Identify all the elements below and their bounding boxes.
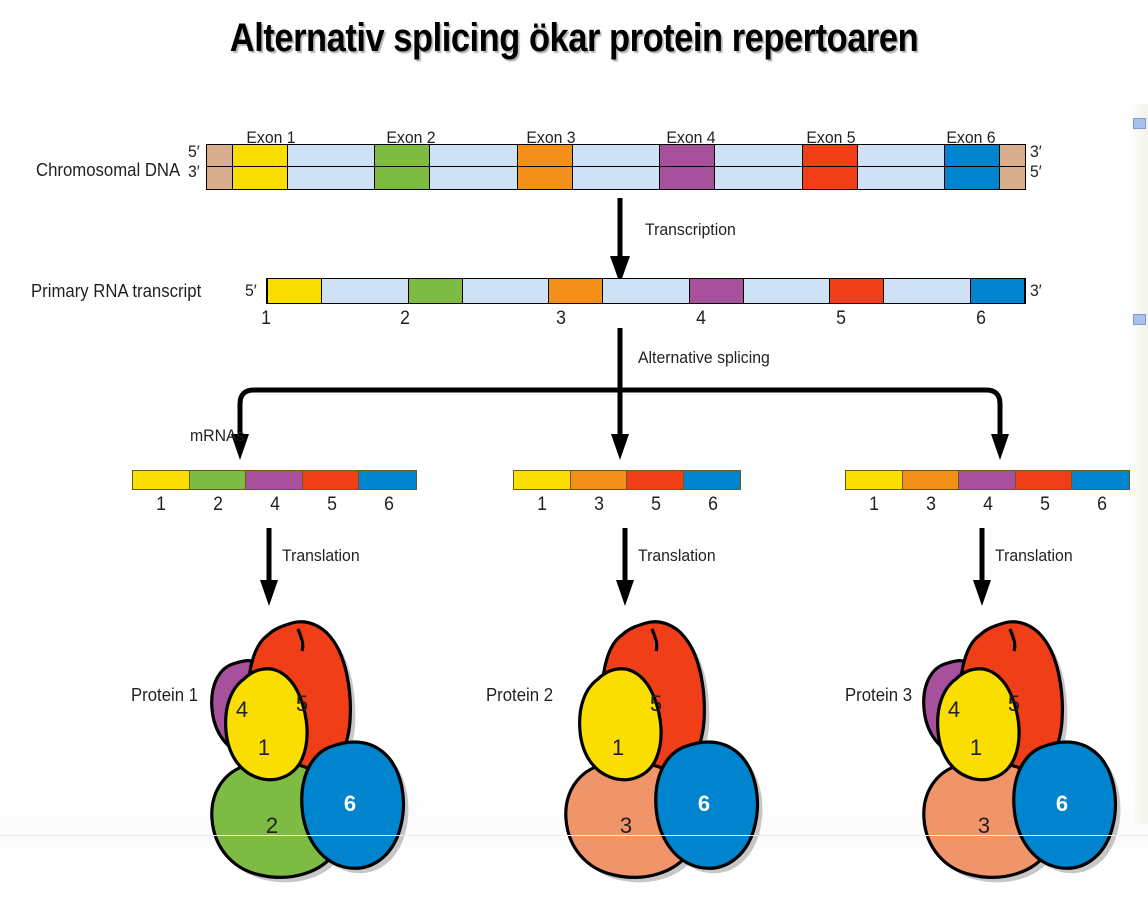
rna-number-3: 3 (556, 308, 566, 330)
rail-mark-top[interactable] (1133, 118, 1146, 129)
mrna-1-number-5: 5 (327, 494, 337, 516)
alternative-splicing-branch (130, 328, 1130, 458)
mrna-1-exon-5 (303, 471, 360, 489)
rna-exon-5 (829, 279, 884, 303)
dna-exon-4-strand-top (659, 145, 715, 166)
protein-label-3: Protein 3 (845, 685, 912, 706)
mrna-3-number-3: 3 (926, 494, 936, 516)
splicing-diagram: Exon 1 Exon 2 Exon 3 Exon 4 Exon 5 Exon … (0, 100, 1148, 830)
protein-complex-2: 5361 (552, 605, 782, 905)
mrnas-label: mRNAs (190, 426, 244, 446)
rna-exon-2 (408, 279, 463, 303)
dna-exon-5-strand-top (802, 145, 858, 166)
dna-intron-5-strand-top (858, 145, 945, 166)
rna-number-2: 2 (400, 308, 410, 330)
dna-intron-2-strand-top (430, 145, 517, 166)
rna-intron-3 (603, 279, 689, 303)
dna-strand-bottom (207, 167, 1025, 189)
dna-flank-right-strand-bottom (1000, 167, 1025, 189)
translation-arrow-2 (608, 528, 644, 608)
mrna-1-exon-1 (133, 471, 190, 489)
primary-rna-label: Primary RNA transcript (31, 281, 201, 302)
page-title: Alternativ splicing ökar protein reperto… (80, 16, 1067, 61)
mrna-1-number-1: 1 (156, 494, 166, 516)
protein-2-subunit-number-5: 5 (650, 691, 662, 716)
mrna-1-number-4: 4 (270, 494, 280, 516)
chromosomal-dna-bar (206, 144, 1026, 190)
dna-flank-left-strand-bottom (207, 167, 232, 189)
dna-exon-6-strand-top (944, 145, 1000, 166)
protein-1-subunit-number-6: 6 (344, 791, 356, 816)
mrna-3-exon-3 (903, 471, 960, 489)
dna-intron-1-strand-bottom (288, 167, 375, 189)
mrna-2-exon-5 (627, 471, 684, 489)
dna-flank-right-strand-top (1000, 145, 1025, 166)
protein-3-subunit-number-6: 6 (1056, 791, 1068, 816)
mrna-2-exon-6 (684, 471, 741, 489)
transcription-arrow (600, 198, 640, 286)
rna-exon-1 (267, 279, 322, 303)
rna-3prime: 3′ (1030, 281, 1042, 301)
mrna-2-number-6: 6 (708, 494, 718, 516)
rna-number-4: 4 (696, 308, 706, 330)
translation-arrow-3 (965, 528, 1001, 608)
primary-rna-bar (266, 278, 1026, 304)
mrna-3-exon-1 (846, 471, 903, 489)
dna-5prime-top: 5′ (188, 142, 200, 162)
rna-number-5: 5 (836, 308, 846, 330)
dna-exon-3-strand-top (517, 145, 573, 166)
mrna-bar-1 (132, 470, 417, 490)
mrna-1-exon-4 (246, 471, 303, 489)
dna-exon-4-strand-bottom (659, 167, 715, 189)
protein-1-subunit-number-1: 1 (258, 735, 270, 760)
protein-complex-3: 45361 (910, 605, 1140, 905)
mrna-1-number-6: 6 (384, 494, 394, 516)
protein-3-subunit-number-1: 1 (970, 735, 982, 760)
bottom-divider (0, 835, 1148, 836)
protein-label-1: Protein 1 (131, 685, 198, 706)
dna-flank-left-strand-top (207, 145, 232, 166)
dna-exon-5-strand-bottom (802, 167, 858, 189)
dna-intron-4-strand-bottom (715, 167, 802, 189)
protein-2-subunit-1 (580, 669, 661, 780)
translation-label-3: Translation (995, 546, 1073, 566)
protein-3-subunit-number-4: 4 (948, 697, 960, 722)
rail-mark-bottom[interactable] (1133, 314, 1146, 325)
translation-arrow-1 (252, 528, 288, 608)
dna-3prime-bottom: 3′ (188, 162, 200, 182)
dna-intron-2-strand-bottom (430, 167, 517, 189)
rna-number-1: 1 (261, 308, 271, 330)
mrna-1-exon-2 (190, 471, 247, 489)
dna-strand-top (207, 145, 1025, 167)
protein-2-subunit-number-6: 6 (698, 791, 710, 816)
protein-1-subunit-number-4: 4 (236, 697, 248, 722)
mrna-2-number-3: 3 (594, 494, 604, 516)
rna-intron-1 (322, 279, 408, 303)
rna-exon-3 (548, 279, 603, 303)
mrna-1-exon-6 (359, 471, 416, 489)
dna-intron-3-strand-bottom (573, 167, 660, 189)
mrna-3-number-1: 1 (869, 494, 879, 516)
protein-3-subunit-1 (938, 669, 1019, 780)
translation-label-1: Translation (282, 546, 360, 566)
mrna-1-number-2: 2 (213, 494, 223, 516)
mrna-3-exon-5 (1016, 471, 1073, 489)
rna-5prime: 5′ (245, 281, 257, 301)
dna-exon-2-strand-bottom (374, 167, 430, 189)
chromosomal-dna-label: Chromosomal DNA (36, 160, 180, 181)
right-scroll-rail[interactable] (1131, 104, 1148, 824)
dna-intron-4-strand-top (715, 145, 802, 166)
rna-intron-5 (884, 279, 970, 303)
dna-exon-1-strand-top (232, 145, 288, 166)
rna-exon-4 (689, 279, 744, 303)
mrna-3-exon-4 (959, 471, 1016, 489)
mrna-3-number-6: 6 (1097, 494, 1107, 516)
mrna-3-exon-6 (1072, 471, 1129, 489)
protein-2-subunit-number-1: 1 (612, 735, 624, 760)
dna-intron-1-strand-top (288, 145, 375, 166)
dna-exon-1-strand-bottom (232, 167, 288, 189)
dna-exon-2-strand-top (374, 145, 430, 166)
mrna-3-number-5: 5 (1040, 494, 1050, 516)
mrna-3-number-4: 4 (983, 494, 993, 516)
rna-exon-6 (970, 279, 1025, 303)
dna-5prime-bottom: 5′ (1030, 162, 1042, 182)
rna-intron-2 (463, 279, 549, 303)
mrna-2-exon-3 (571, 471, 628, 489)
mrna-2-number-1: 1 (537, 494, 547, 516)
mrna-2-number-5: 5 (651, 494, 661, 516)
protein-1-subunit-number-5: 5 (296, 691, 308, 716)
protein-3-subunit-number-5: 5 (1008, 691, 1020, 716)
dna-intron-3-strand-top (573, 145, 660, 166)
rna-number-6: 6 (976, 308, 986, 330)
protein-label-2: Protein 2 (486, 685, 553, 706)
protein-1-subunit-1 (226, 669, 307, 780)
mrna-bar-3 (845, 470, 1130, 490)
mrna-2-exon-1 (514, 471, 571, 489)
dna-exon-3-strand-bottom (517, 167, 573, 189)
rna-intron-4 (744, 279, 830, 303)
mrna-bar-2 (513, 470, 741, 490)
protein-complex-1: 45261 (198, 605, 428, 905)
translation-label-2: Translation (638, 546, 716, 566)
transcription-label: Transcription (645, 220, 736, 240)
dna-exon-6-strand-bottom (944, 167, 1000, 189)
dna-intron-5-strand-bottom (858, 167, 945, 189)
dna-3prime-top: 3′ (1030, 142, 1042, 162)
